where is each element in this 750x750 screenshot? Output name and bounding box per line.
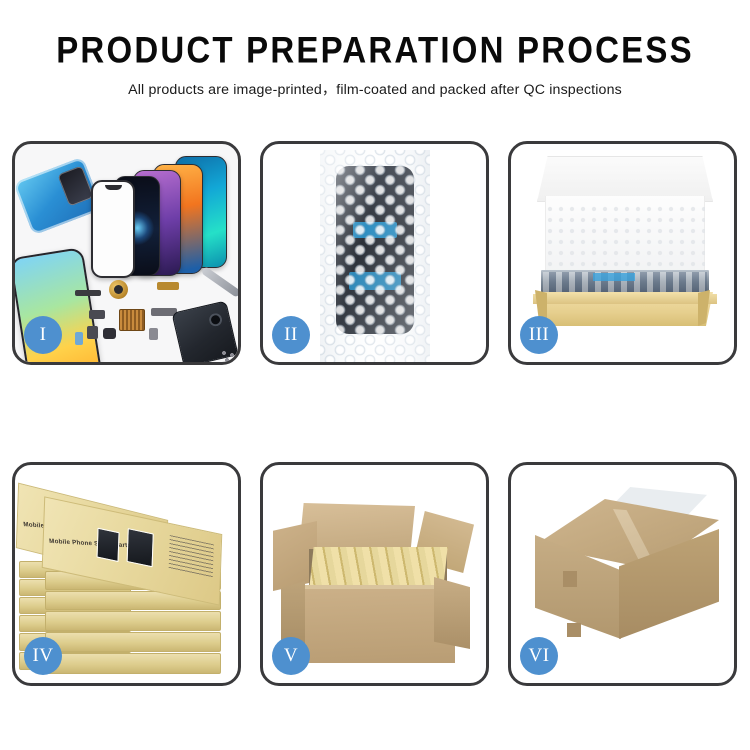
box-front-lid bbox=[533, 294, 717, 304]
foam-lining-icon bbox=[545, 204, 705, 274]
page-subtitle: All products are image-printed，film-coat… bbox=[0, 79, 750, 99]
retail-box-slab bbox=[45, 611, 221, 631]
step-panel-1: I bbox=[12, 141, 241, 365]
spare-parts-cluster bbox=[73, 276, 238, 362]
connector-icon bbox=[103, 328, 116, 339]
sim-tray-icon bbox=[75, 332, 83, 345]
step-panel-6: VI bbox=[508, 462, 737, 686]
carton-tab bbox=[563, 571, 577, 587]
step-badge-4: IV bbox=[24, 637, 62, 675]
header: PRODUCT PREPARATION PROCESS All products… bbox=[0, 0, 750, 99]
step-badge-1: I bbox=[24, 316, 62, 354]
step-panel-5: V bbox=[260, 462, 489, 686]
glass-protector-icon bbox=[91, 180, 135, 278]
speaker-module-icon bbox=[75, 290, 101, 296]
screws-icon bbox=[221, 350, 238, 362]
blue-label-icon bbox=[593, 273, 635, 281]
retail-box-slab bbox=[45, 632, 221, 652]
plastic-sheen bbox=[320, 150, 430, 362]
connector-icon bbox=[89, 310, 105, 319]
copper-coil-icon bbox=[109, 280, 128, 299]
flex-cable-icon bbox=[157, 282, 179, 290]
product-preparation-infographic: PRODUCT PREPARATION PROCESS All products… bbox=[0, 0, 750, 750]
connector-icon bbox=[87, 326, 98, 339]
step-badge-5: V bbox=[272, 637, 310, 675]
carton-tab bbox=[567, 623, 581, 637]
step-badge-6: VI bbox=[520, 637, 558, 675]
chip-grid-icon bbox=[119, 309, 145, 331]
box-screen-graphic bbox=[127, 528, 154, 567]
carton-side-right bbox=[434, 577, 470, 649]
process-steps-grid: I II bbox=[12, 141, 738, 686]
step-badge-3: III bbox=[520, 316, 558, 354]
step-badge-2: II bbox=[272, 316, 310, 354]
step-panel-3: III bbox=[508, 141, 737, 365]
page-title: PRODUCT PREPARATION PROCESS bbox=[0, 30, 750, 70]
connector-icon bbox=[149, 328, 158, 340]
box-screen-graphic bbox=[97, 528, 120, 562]
retail-box-slab bbox=[45, 653, 221, 674]
carton-front-face bbox=[299, 589, 455, 663]
step-panel-2: II bbox=[260, 141, 489, 365]
step-panel-4: Mobile Phone Spare Parts Mobile Phone Sp… bbox=[12, 462, 241, 686]
